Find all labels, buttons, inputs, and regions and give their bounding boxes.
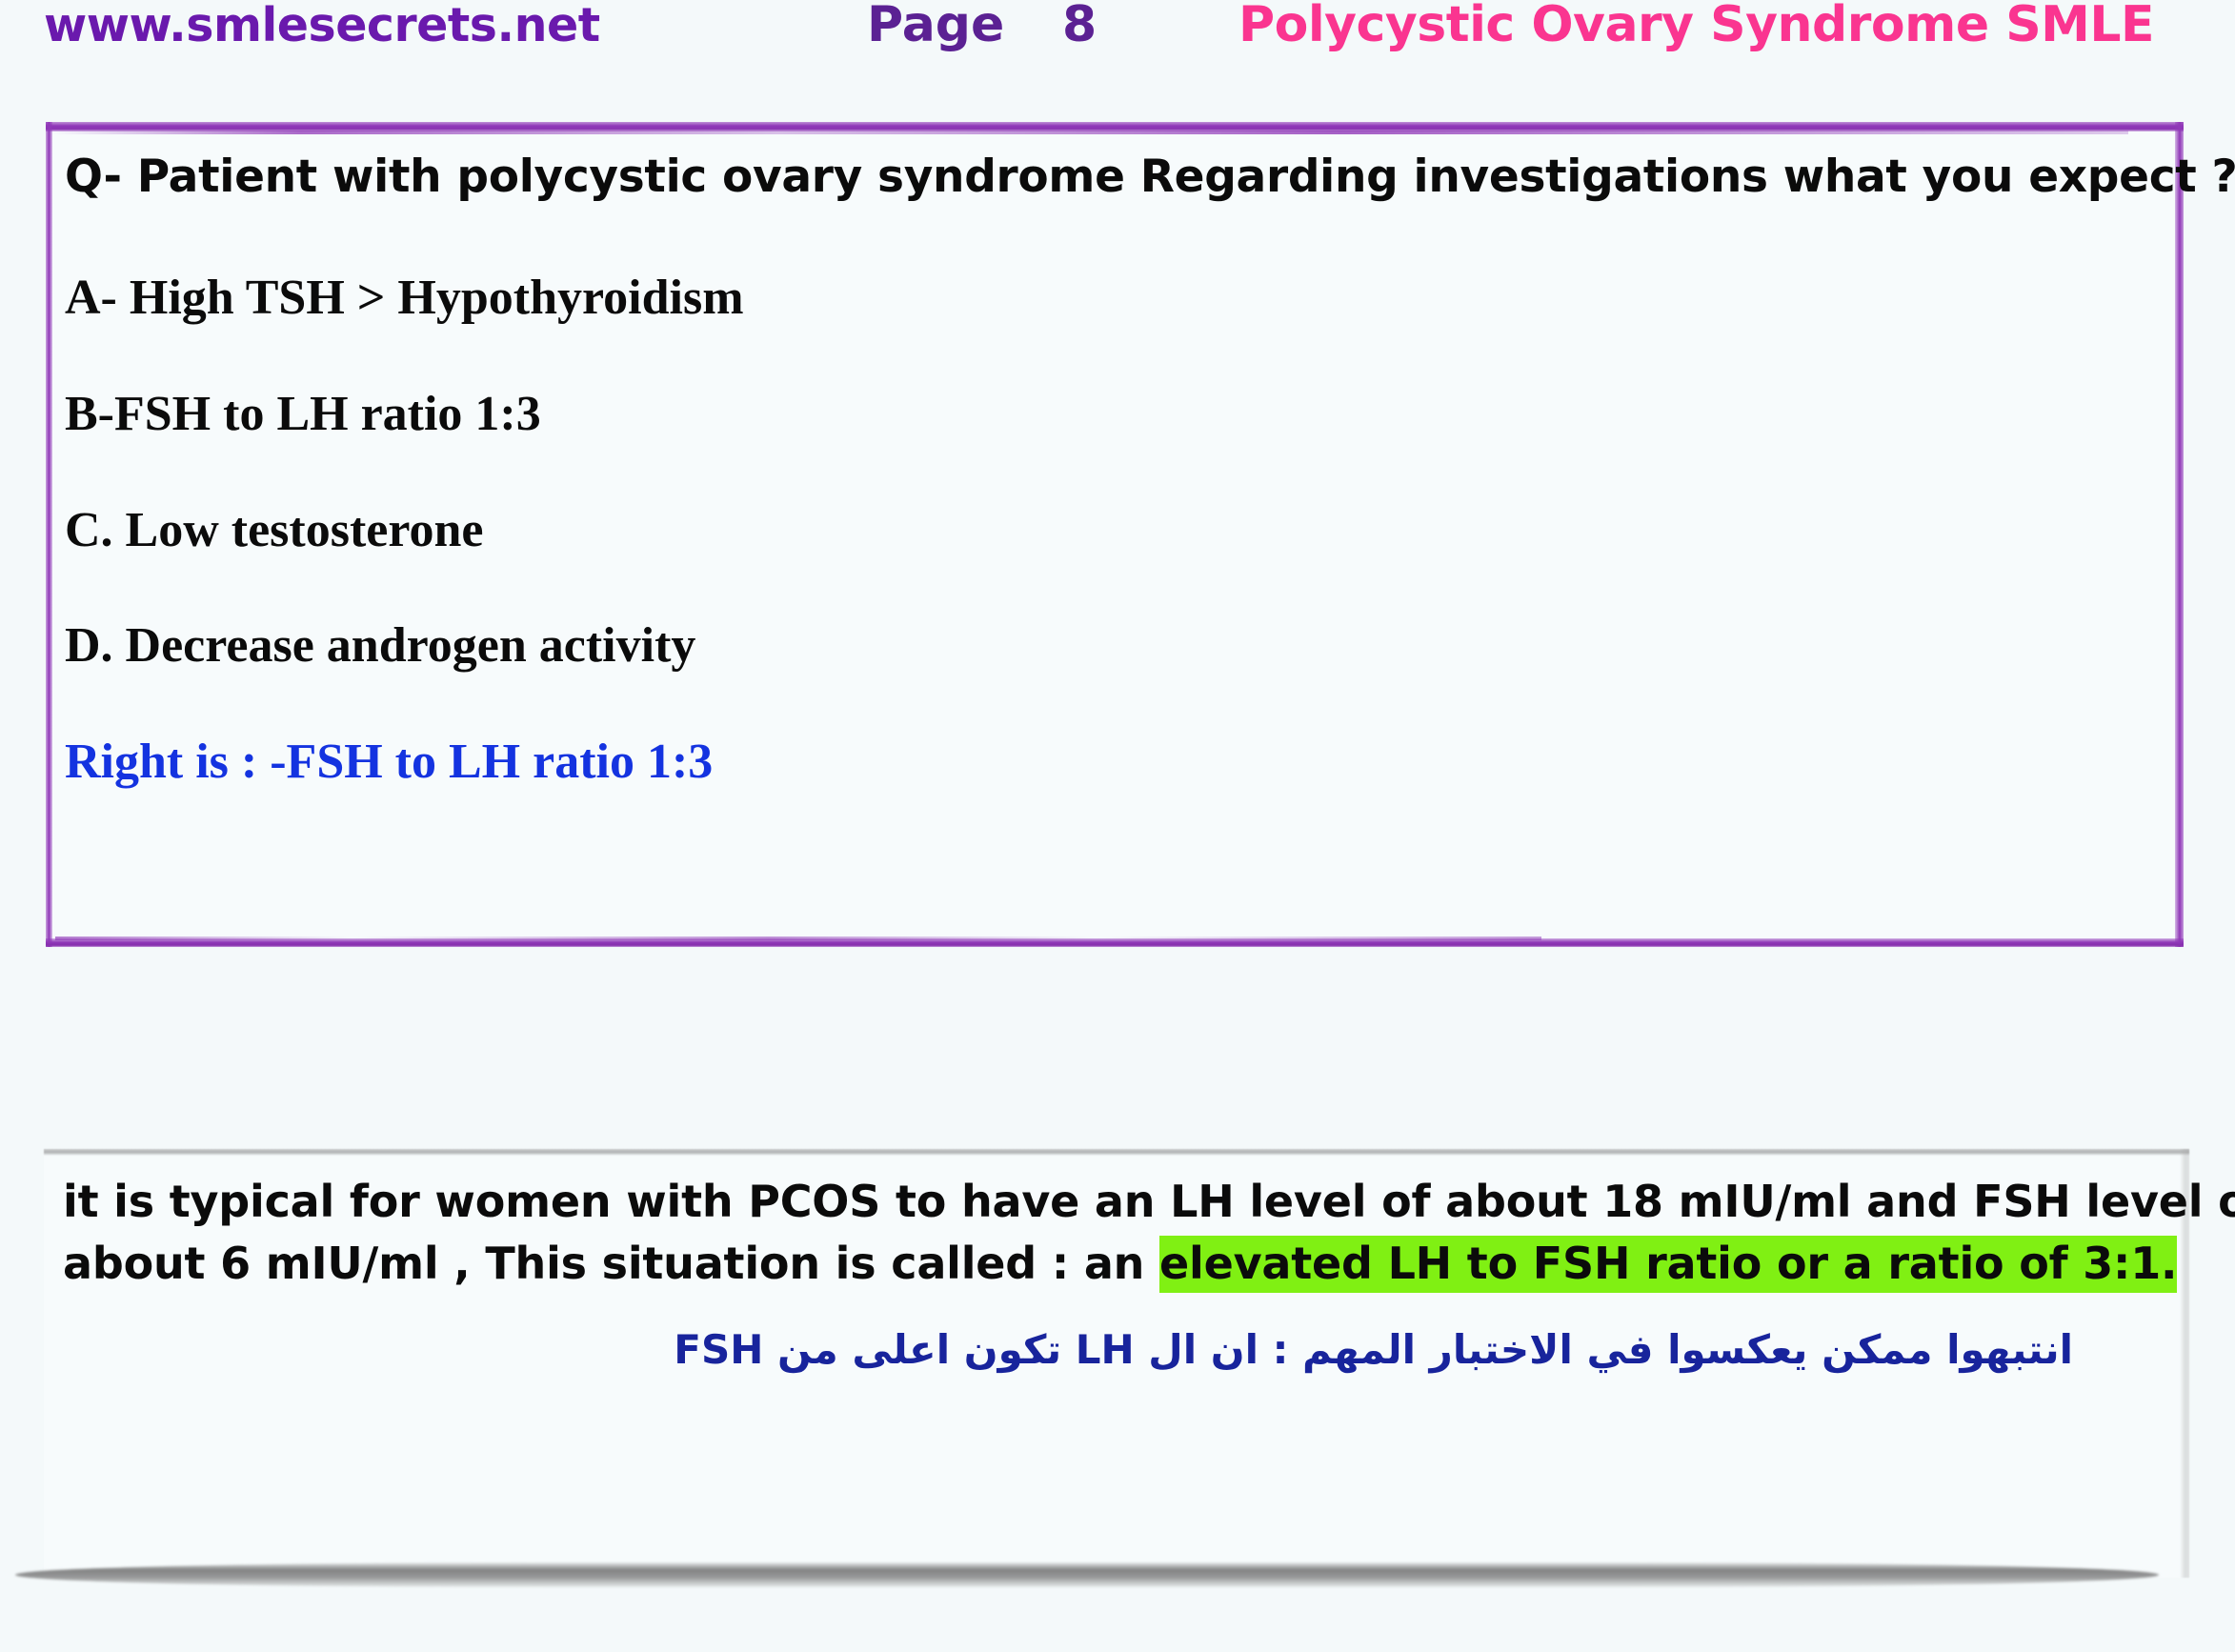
correct-answer: Right is : -FSH to LH ratio 1:3 xyxy=(65,734,713,790)
site-url: www.smlesecrets.net xyxy=(44,0,600,52)
explanation-line-1: it is typical for women with PCOS to hav… xyxy=(63,1176,2235,1227)
page-number: 8 xyxy=(1062,0,1097,53)
question-box-border-right xyxy=(2175,122,2184,947)
topic-title: Polycystic Ovary Syndrome SMLE xyxy=(1238,0,2154,53)
page-label: Page xyxy=(867,0,1004,53)
explanation-box-border-top xyxy=(44,1149,2189,1156)
option-d[interactable]: D. Decrease androgen activity xyxy=(65,617,695,674)
arabic-note: انتبهوا ممكن يعكسوا في الاختبار المهم : … xyxy=(44,1326,2073,1373)
question-box: Q- Patient with polycystic ovary syndrom… xyxy=(46,122,2184,947)
option-a[interactable]: A- High TSH > Hypothyroidism xyxy=(65,270,744,326)
explanation-highlight: elevated LH to FSH ratio or a ratio of 3… xyxy=(1159,1236,2177,1293)
question-box-border-bottom-accent xyxy=(55,937,1541,940)
explanation-box: it is typical for women with PCOS to hav… xyxy=(44,1149,2189,1578)
explanation-line-2-prefix: about 6 mIU/ml , This situation is calle… xyxy=(63,1238,1159,1289)
question-stem: Q- Patient with polycystic ovary syndrom… xyxy=(65,151,2235,203)
question-box-border-top-accent xyxy=(51,131,2128,134)
explanation-line-2: about 6 mIU/ml , This situation is calle… xyxy=(63,1238,2177,1289)
question-box-border-left xyxy=(46,122,52,947)
page-header: www.smlesecrets.net Page 8 Polycystic Ov… xyxy=(0,0,2235,69)
option-c[interactable]: C. Low testosterone xyxy=(65,502,484,558)
option-b[interactable]: B-FSH to LH ratio 1:3 xyxy=(65,386,541,442)
explanation-box-border-bottom xyxy=(15,1562,2159,1587)
